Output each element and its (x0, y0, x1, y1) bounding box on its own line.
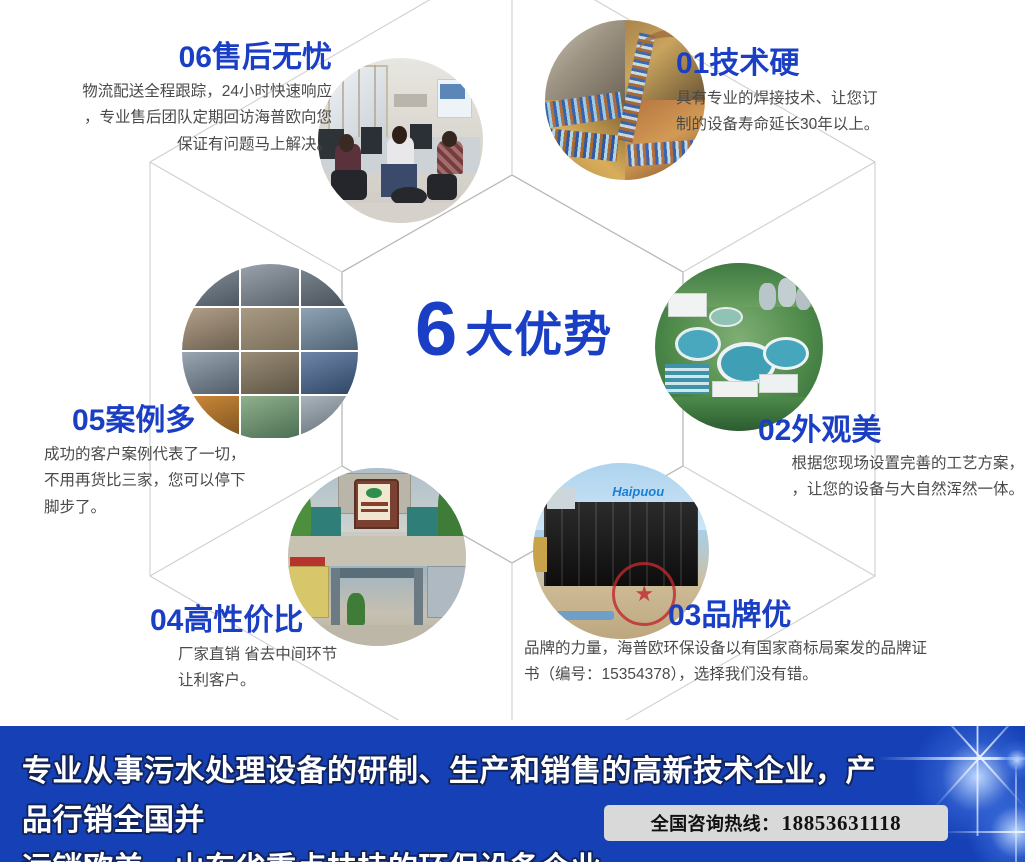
feature-photo-02 (655, 263, 823, 431)
center-title: 6大优势 (415, 292, 675, 382)
feature-body-06: 物流配送全程跟踪，24小时快速响应 ，专业售后团队定期回访海普欧向您 保证有问题… (10, 79, 332, 159)
feature-body-04: 厂家直销 省去中间环节 让利客户。 (178, 642, 480, 695)
feature-heading-02: 02外观美 (758, 415, 1024, 447)
feature-heading-03: 03品牌优 (668, 600, 1025, 632)
hotline-box: 全国咨询热线：18853631118 (604, 805, 948, 841)
feature-heading-06: 06售后无忧 (10, 42, 332, 74)
feature-body-01: 具有专业的焊接技术、让您订 制的设备寿命延长30年以上。 (676, 86, 1016, 139)
feature-heading-04: 04高性价比 (150, 605, 480, 637)
bottom-banner: 专业从事污水处理设备的研制、生产和销售的高新技术企业，产品行销全国并 远销欧美，… (0, 726, 1025, 862)
center-number: 6 (415, 287, 457, 372)
feature-body-05: 成功的客户案例代表了一切， 不用再货比三家，您可以停下 脚步了。 (44, 442, 372, 522)
feature-heading-01: 01技术硬 (676, 48, 1016, 80)
feature-body-03: 品牌的力量，海普欧环保设备以有国家商标局案发的品牌证 书（编号：15354378… (524, 636, 1025, 689)
center-label-text: 大优势 (465, 309, 612, 362)
sparkle-ray-h-2 (940, 831, 1025, 833)
feature-block-02: 02外观美 根据您现场设置完善的工艺方案， ，让您的设备与大自然浑然一体。 (640, 415, 1024, 504)
feature-block-04: 04高性价比 厂家直销 省去中间环节 让利客户。 (150, 605, 480, 695)
hotline-label: 全国咨询热线： (651, 810, 780, 836)
feature-photo-06 (318, 58, 483, 223)
feature-block-06: 06售后无忧 物流配送全程跟踪，24小时快速响应 ，专业售后团队定期回访海普欧向… (10, 42, 332, 158)
infographic-root: Haipuou ★ 6大优势 06售后无忧 物流配送全程跟踪，24小时快速响应 … (0, 0, 1025, 862)
feature-body-02: 根据您现场设置完善的工艺方案， ，让您的设备与大自然浑然一体。 (640, 451, 1024, 504)
sparkle-ray-v-2 (1015, 766, 1017, 862)
hotline-number: 18853631118 (782, 811, 902, 836)
feature-block-03: 03品牌优 品牌的力量，海普欧环保设备以有国家商标局案发的品牌证 书（编号：15… (540, 600, 1025, 689)
feature-block-05: 05案例多 成功的客户案例代表了一切， 不用再货比三家，您可以停下 脚步了。 (72, 405, 372, 521)
feature-heading-05: 05案例多 (72, 405, 372, 437)
feature-block-01: 01技术硬 具有专业的焊接技术、让您订 制的设备寿命延长30年以上。 (676, 48, 1016, 139)
